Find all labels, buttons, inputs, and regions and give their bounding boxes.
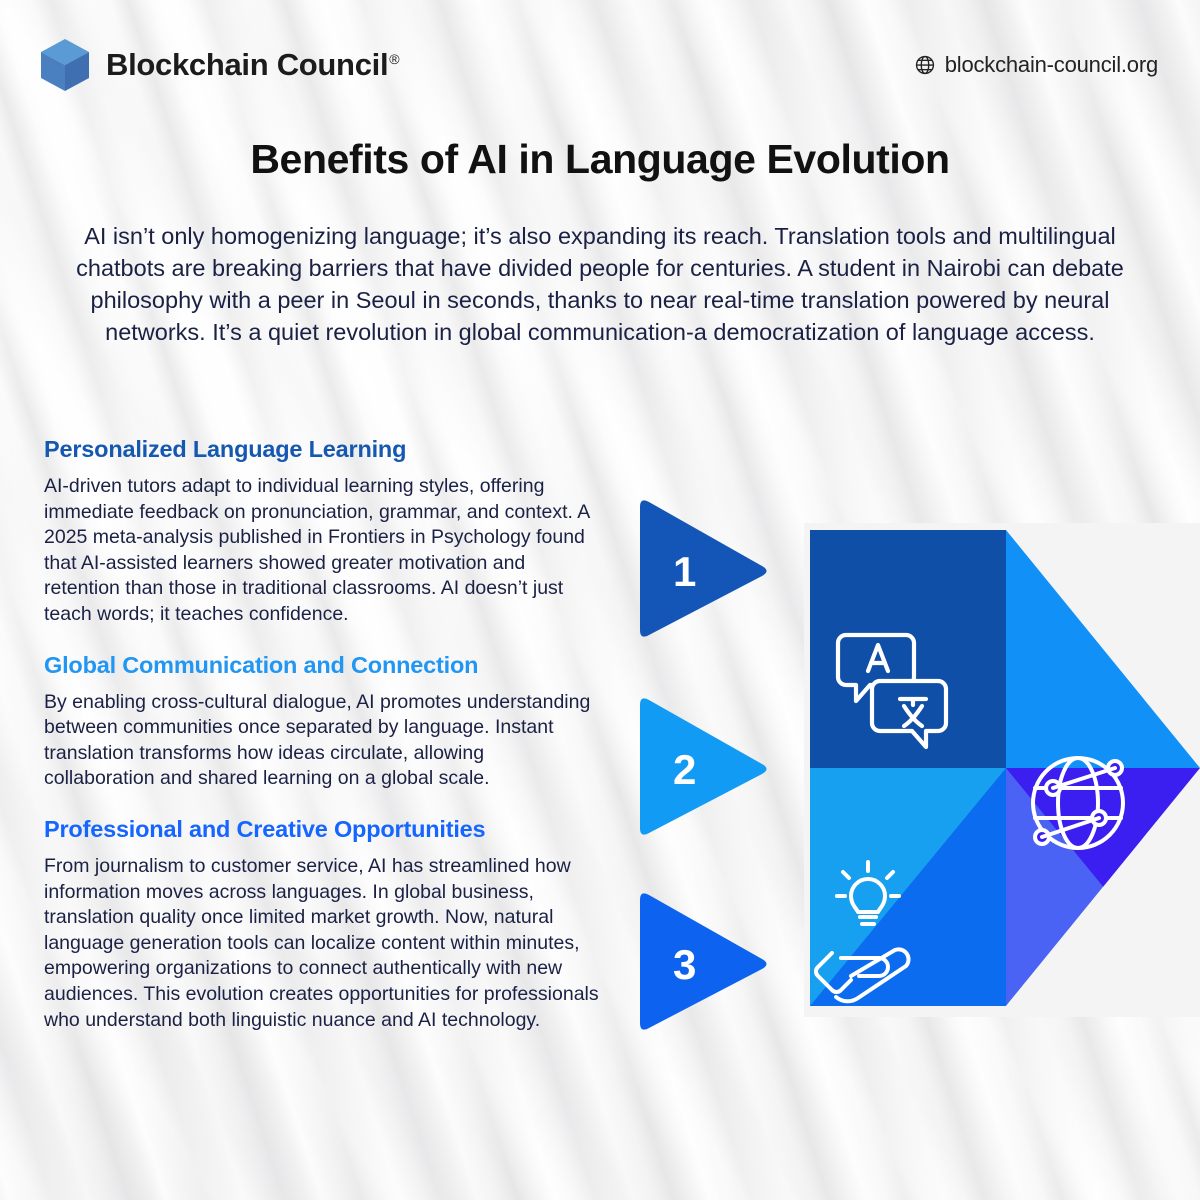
number-marker-2-label: 2 — [673, 746, 696, 793]
brand-lockup: Blockchain Council® — [38, 37, 399, 93]
triangle-graphic-svg: 1 2 3 — [610, 485, 1200, 1055]
section-3: Professional and Creative Opportunities … — [44, 816, 600, 1033]
number-marker-3: 3 — [640, 893, 767, 1029]
cube-icon — [38, 37, 92, 93]
header: Blockchain Council® blockchain-council.o… — [0, 34, 1200, 96]
infographic-page: Blockchain Council® blockchain-council.o… — [0, 0, 1200, 1200]
section-3-body: From journalism to customer service, AI … — [44, 854, 600, 1033]
registered-mark: ® — [389, 51, 399, 67]
section-1-heading: Personalized Language Learning — [44, 436, 600, 463]
number-marker-2: 2 — [640, 698, 767, 834]
triangle-graphic: 1 2 3 — [610, 485, 1200, 1055]
section-2-heading: Global Communication and Connection — [44, 652, 600, 679]
sections-column: Personalized Language Learning AI-driven… — [44, 436, 600, 1057]
globe-icon — [914, 54, 936, 76]
site-url-text: blockchain-council.org — [945, 52, 1158, 78]
intro-paragraph: AI isn’t only homogenizing language; it’… — [72, 220, 1128, 348]
number-marker-1: 1 — [640, 500, 767, 636]
site-url-lockup[interactable]: blockchain-council.org — [914, 52, 1158, 78]
number-marker-3-label: 3 — [673, 941, 696, 988]
section-2: Global Communication and Connection By e… — [44, 652, 600, 792]
section-1: Personalized Language Learning AI-driven… — [44, 436, 600, 628]
page-title: Benefits of AI in Language Evolution — [0, 136, 1200, 183]
brand-name: Blockchain Council® — [106, 47, 399, 83]
section-3-heading: Professional and Creative Opportunities — [44, 816, 600, 843]
section-2-body: By enabling cross-cultural dialogue, AI … — [44, 690, 600, 792]
number-marker-1-label: 1 — [673, 548, 696, 595]
section-1-body: AI-driven tutors adapt to individual lea… — [44, 474, 600, 628]
brand-name-text: Blockchain Council — [106, 47, 388, 82]
